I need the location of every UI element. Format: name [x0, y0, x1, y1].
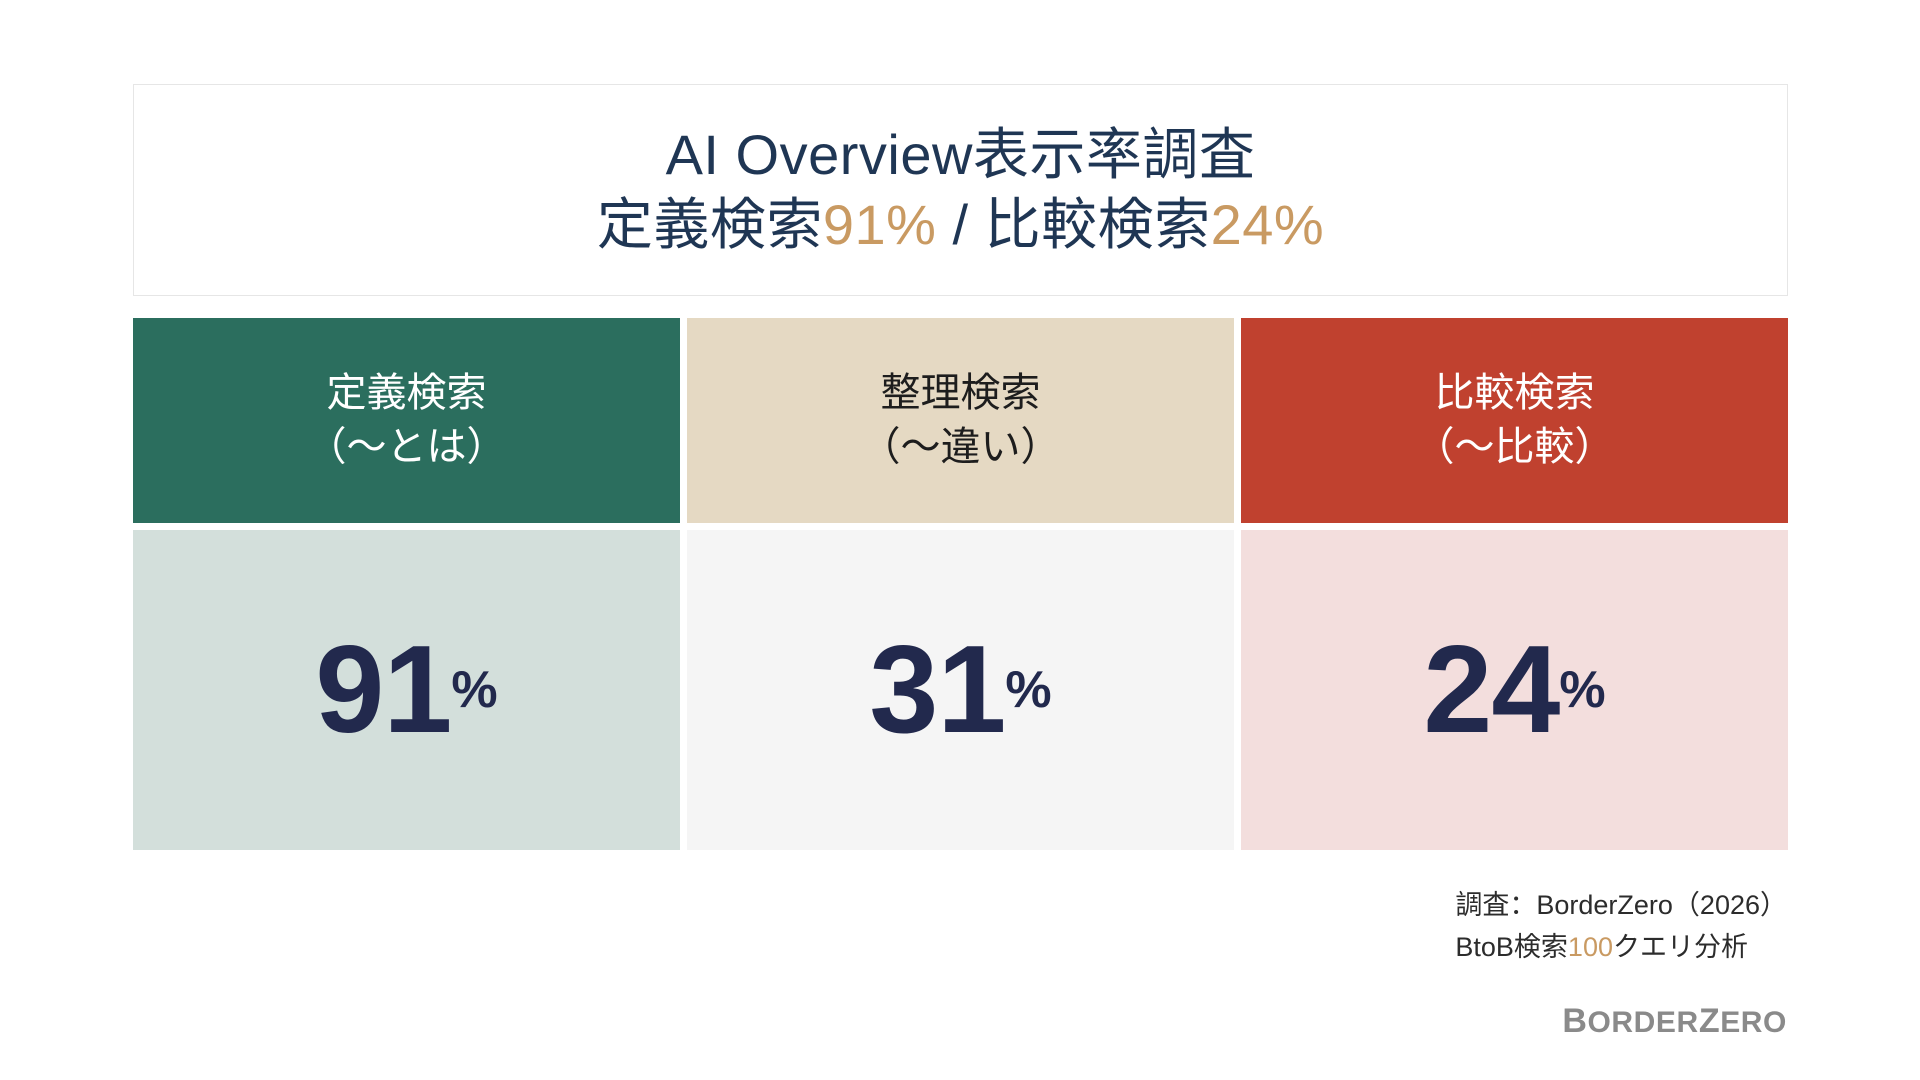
comparison-table: 定義検索 （〜とは） 整理検索 （〜違い） 比較検索 （〜比較） 91% 31%… [133, 318, 1788, 850]
subtitle-separator: / [936, 193, 984, 256]
value-number: 31 [869, 628, 1005, 752]
source-line-2-suffix: クエリ分析 [1613, 932, 1748, 962]
title-card: AI Overview表示率調査 定義検索91% / 比較検索24% [133, 84, 1788, 296]
value-number: 24 [1423, 628, 1559, 752]
brand-cap-b: B [1562, 1002, 1587, 1040]
subtitle-label-2: 比較検索 [985, 193, 1211, 256]
subtitle-label-1: 定義検索 [597, 193, 823, 256]
page-title: AI Overview表示率調査 [666, 123, 1256, 187]
table-value-cell-compare: 24% [1241, 530, 1788, 850]
header-label-line2: （〜比較） [1415, 422, 1615, 473]
table-header-cell-organize: 整理検索 （〜違い） [687, 318, 1234, 523]
header-label-line1: 整理検索 [881, 368, 1041, 419]
value-percent-sign: % [1005, 660, 1051, 720]
infographic-canvas: AI Overview表示率調査 定義検索91% / 比較検索24% 定義検索 … [0, 0, 1920, 1080]
value-percent-sign: % [451, 660, 497, 720]
header-label-line2: （〜違い） [861, 422, 1061, 473]
value-percent-sign: % [1559, 660, 1605, 720]
source-line-2-number: 100 [1568, 932, 1613, 962]
subtitle-percent-2: 24% [1211, 193, 1325, 256]
brand-cap-z: Z [1699, 1002, 1720, 1040]
table-header-cell-compare: 比較検索 （〜比較） [1241, 318, 1788, 523]
source-line-1: 調査：BorderZero（2026） [1455, 885, 1787, 927]
subtitle-percent-1: 91% [823, 193, 937, 256]
header-label-line2: （〜とは） [307, 422, 507, 473]
table-value-cell-organize: 31% [687, 530, 1234, 850]
header-label-line1: 定義検索 [327, 368, 487, 419]
brand-rest-ero: ERO [1720, 1006, 1787, 1039]
source-attribution: 調査：BorderZero（2026） BtoB検索100クエリ分析 [1455, 885, 1787, 969]
brand-rest-order: ORDER [1587, 1006, 1698, 1039]
table-value-cell-definition: 91% [133, 530, 680, 850]
table-header-cell-definition: 定義検索 （〜とは） [133, 318, 680, 523]
page-subtitle: 定義検索91% / 比較検索24% [597, 193, 1324, 257]
brand-logo: BORDERZERO [1562, 1002, 1787, 1041]
header-label-line1: 比較検索 [1435, 368, 1595, 419]
source-line-2-prefix: BtoB検索 [1455, 932, 1568, 962]
source-line-2: BtoB検索100クエリ分析 [1455, 927, 1787, 969]
value-number: 91 [315, 628, 451, 752]
